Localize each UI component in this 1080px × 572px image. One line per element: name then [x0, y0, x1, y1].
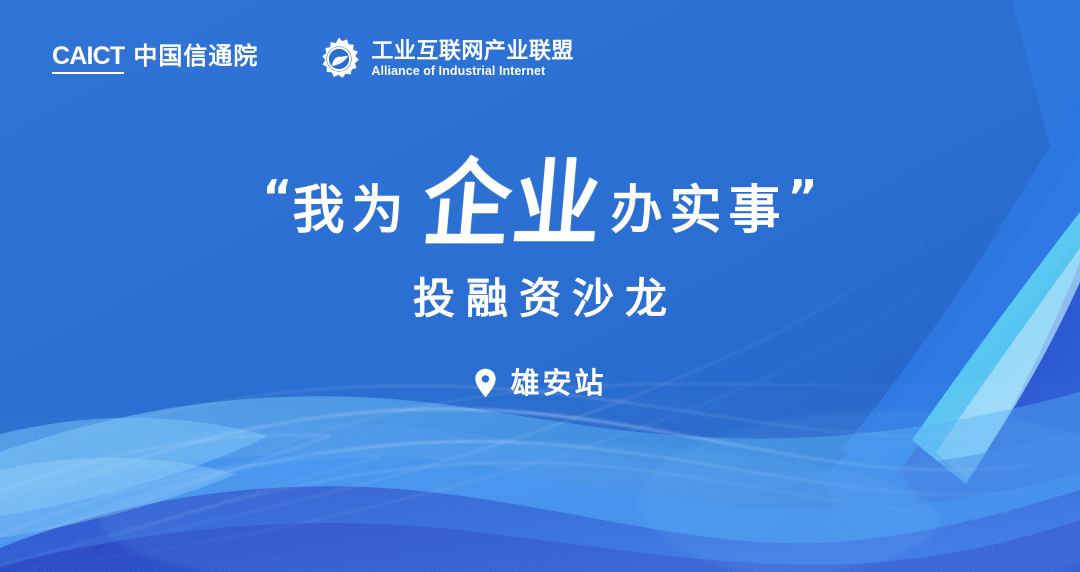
map-pin-icon	[473, 368, 498, 398]
location-label: 雄安站	[510, 369, 606, 398]
subtitle: 投融资沙龙	[0, 278, 1080, 320]
logo-caict: CAICT 中国信通院	[52, 44, 258, 74]
poster-canvas: CAICT 中国信通院 工业互联网产业联盟	[0, 0, 1080, 572]
headline-lead: 我为	[292, 185, 410, 237]
logo-alliance: 工业互联网产业联盟 Alliance of Industrial Interne…	[316, 36, 574, 82]
open-quote: “	[262, 174, 292, 220]
logo-bar: CAICT 中国信通院 工业互联网产业联盟	[52, 36, 574, 82]
headline: “ 我为 企业 办实事 ”	[0, 168, 1080, 254]
alliance-name-en: Alliance of Industrial Internet	[371, 65, 574, 78]
caict-wordmark-icon: CAICT	[52, 44, 124, 74]
alliance-text: 工业互联网产业联盟 Alliance of Industrial Interne…	[371, 40, 574, 78]
location-row: 雄安站	[0, 368, 1080, 398]
gear-signal-icon	[316, 36, 362, 82]
alliance-name-cn: 工业互联网产业联盟	[371, 40, 574, 63]
headline-trail: 办实事	[611, 185, 788, 237]
headline-brush-word: 企业	[419, 158, 607, 253]
caict-name-cn: 中国信通院	[133, 44, 258, 68]
close-quote: ”	[788, 174, 818, 220]
